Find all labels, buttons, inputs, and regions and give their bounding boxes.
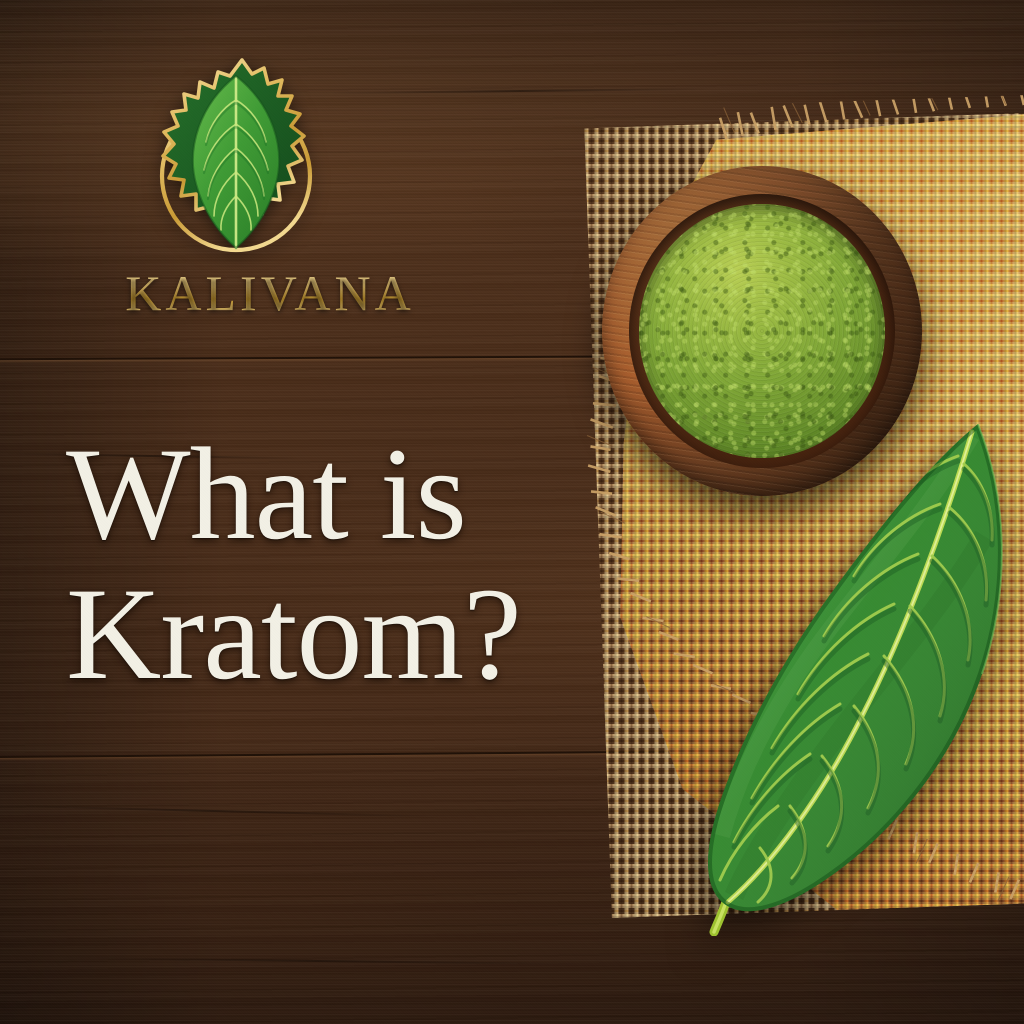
page-title: What is Kratom? — [66, 424, 666, 704]
headline-line-2: Kratom? — [66, 564, 666, 704]
promo-image: KALIVANA What is Kratom? — [0, 0, 1024, 1024]
kratom-leaf — [682, 416, 1024, 936]
headline-line-1: What is — [66, 424, 666, 564]
brand-logo — [126, 52, 336, 262]
brand-name: KALIVANA — [60, 268, 480, 318]
leaf-in-droplet-icon — [126, 52, 336, 262]
